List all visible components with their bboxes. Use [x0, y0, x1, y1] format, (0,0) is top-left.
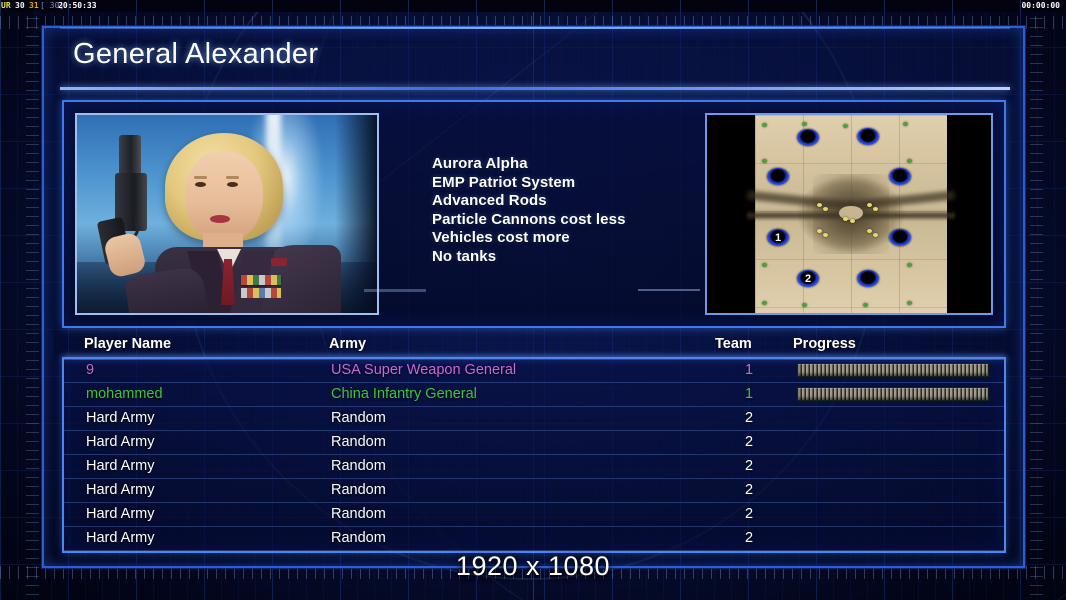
map-resource-dot: [907, 263, 912, 267]
portrait-rank-insignia: [271, 258, 287, 266]
cell-player-name: 9: [86, 362, 94, 378]
ability-item: Advanced Rods: [432, 192, 712, 211]
portrait-face: [185, 151, 263, 243]
cell-army: USA Super Weapon General: [331, 362, 516, 378]
cell-player-name: Hard Army: [86, 410, 155, 426]
cell-player-name: Hard Army: [86, 482, 155, 498]
title-underline: [60, 87, 1010, 90]
cell-player-name: Hard Army: [86, 506, 155, 522]
map-resource-dot: [863, 303, 868, 307]
map-resource-dot: [762, 263, 767, 267]
ability-item: Particle Cannons cost less: [432, 211, 712, 230]
status-bar-grid: [0, 0, 1066, 12]
cell-army: Random: [331, 434, 386, 450]
map-resource-dot: [873, 233, 878, 237]
map-resource-dot: [823, 207, 828, 211]
map-start-position[interactable]: [767, 168, 789, 185]
cell-team: 2: [745, 410, 753, 426]
map-start-position[interactable]: [889, 229, 911, 246]
progress-bar: [797, 387, 989, 401]
map-resource-dot: [802, 303, 807, 307]
status-timer: 00:00:00: [1021, 0, 1060, 12]
table-row: mohammedChina Infantry General1: [64, 383, 1004, 407]
cell-team: 1: [745, 386, 753, 402]
table-row: Hard ArmyRandom2: [64, 503, 1004, 527]
portrait-eye-left: [195, 182, 206, 187]
progress-bar-fill: [798, 364, 988, 376]
resolution-overlay: 1920 x 1080: [0, 551, 1066, 582]
progress-bar: [797, 363, 989, 377]
general-abilities-list: Aurora Alpha EMP Patriot System Advanced…: [432, 155, 712, 266]
cell-team: 2: [745, 458, 753, 474]
general-info-panel: Aurora Alpha EMP Patriot System Advanced…: [62, 100, 1006, 328]
table-row: Hard ArmyRandom2: [64, 527, 1004, 551]
panel-accent-dash-left: [364, 289, 426, 292]
map-preview: 12: [705, 113, 993, 315]
map-resource-dot: [762, 123, 767, 127]
map-resource-dot: [762, 301, 767, 305]
table-row: 9USA Super Weapon General1: [64, 359, 1004, 383]
player-table-header: Player Name Army Team Progress: [62, 336, 1006, 358]
title-bar: General Alexander: [60, 36, 1010, 88]
portrait-lips: [210, 215, 230, 223]
loading-screen: UR 30 31 [ 30] 20:50:33 00:00:00 General…: [0, 0, 1066, 600]
map-resource-dot: [867, 203, 872, 207]
map-resource-dot: [823, 233, 828, 237]
cell-player-name: Hard Army: [86, 530, 155, 546]
map-resource-dot: [843, 124, 848, 128]
map-resource-dot: [817, 203, 822, 207]
cell-team: 2: [745, 506, 753, 522]
player-table: 9USA Super Weapon General1mohammedChina …: [62, 357, 1006, 553]
cell-army: Random: [331, 482, 386, 498]
cell-army: Random: [331, 506, 386, 522]
cell-army: Random: [331, 458, 386, 474]
ability-item: EMP Patriot System: [432, 174, 712, 193]
portrait-shadow-right: [335, 115, 377, 313]
map-resource-dot: [843, 217, 848, 221]
status-bar: UR 30 31 [ 30] 20:50:33 00:00:00: [0, 0, 1066, 12]
cell-army: Random: [331, 410, 386, 426]
cell-player-name: mohammed: [86, 386, 163, 402]
portrait-eye-right: [227, 182, 238, 187]
cell-team: 1: [745, 362, 753, 378]
ability-item: No tanks: [432, 248, 712, 267]
ruler-strip-left: [26, 0, 39, 600]
map-resource-dot: [802, 122, 807, 126]
portrait-medal-bar-1: [241, 275, 281, 285]
portrait-brow-left: [194, 176, 207, 179]
portrait-brow-right: [226, 176, 239, 179]
column-header-army: Army: [329, 336, 366, 352]
cell-player-name: Hard Army: [86, 434, 155, 450]
map-resource-dot: [907, 301, 912, 305]
table-row: Hard ArmyRandom2: [64, 479, 1004, 503]
cell-player-name: Hard Army: [86, 458, 155, 474]
map-start-position[interactable]: [857, 270, 879, 287]
title-top-rule: [60, 27, 1010, 29]
general-portrait: [75, 113, 379, 315]
map-start-position[interactable]: [797, 129, 819, 146]
map-resource-dot: [867, 229, 872, 233]
cell-team: 2: [745, 482, 753, 498]
progress-bar-fill: [798, 388, 988, 400]
cell-team: 2: [745, 530, 753, 546]
page-title: General Alexander: [73, 38, 318, 71]
table-row: Hard ArmyRandom2: [64, 455, 1004, 479]
table-row: Hard ArmyRandom2: [64, 407, 1004, 431]
cell-army: China Infantry General: [331, 386, 477, 402]
map-start-position-2[interactable]: 2: [797, 270, 819, 287]
map-resource-dot: [873, 207, 878, 211]
panel-accent-dash-right: [638, 289, 700, 291]
map-resource-dot: [850, 219, 855, 223]
status-token-2: 31: [29, 0, 39, 12]
ruler-strip-right: [1030, 0, 1043, 600]
column-header-player-name: Player Name: [84, 336, 171, 352]
map-resource-dot: [762, 159, 767, 163]
cell-army: Random: [331, 530, 386, 546]
map-start-position[interactable]: [889, 168, 911, 185]
map-start-position-1[interactable]: 1: [767, 229, 789, 246]
map-resource-dot: [817, 229, 822, 233]
status-clock: 20:50:33: [58, 0, 97, 12]
map-start-position[interactable]: [857, 128, 879, 145]
map-resource-dot: [903, 122, 908, 126]
column-header-progress: Progress: [793, 336, 856, 352]
map-resource-dot: [907, 159, 912, 163]
cell-team: 2: [745, 434, 753, 450]
portrait-medal-bar-2: [241, 288, 281, 298]
map-terrain: 12: [755, 115, 947, 313]
ability-item: Vehicles cost more: [432, 229, 712, 248]
column-header-team: Team: [715, 336, 752, 352]
ability-item: Aurora Alpha: [432, 155, 712, 174]
status-token-1: 30: [15, 0, 25, 12]
status-token-0: UR: [1, 0, 11, 12]
table-row: Hard ArmyRandom2: [64, 431, 1004, 455]
